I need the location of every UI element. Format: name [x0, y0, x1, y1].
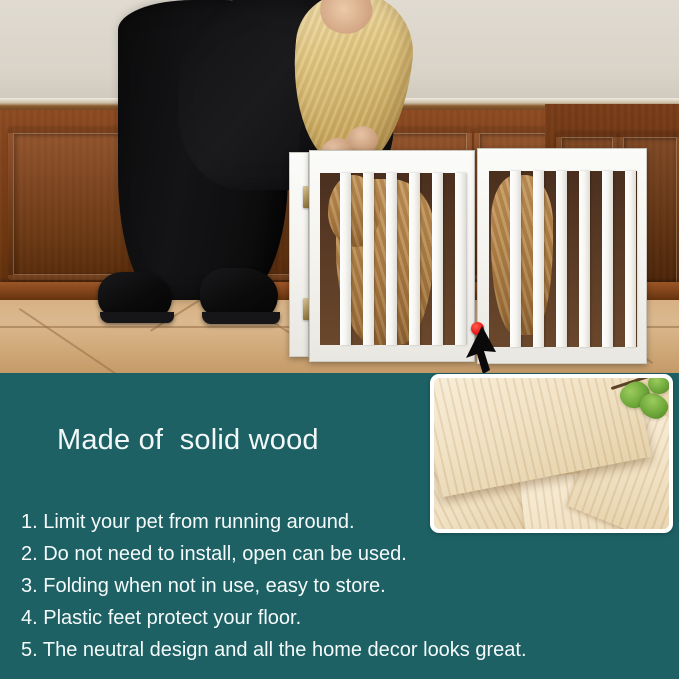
gate-slat [432, 173, 443, 345]
gate-slat [363, 173, 374, 345]
gate-slat [533, 171, 544, 347]
feature-item: 2. Do not need to install, open can be u… [21, 538, 641, 570]
wood-inset-photo [434, 378, 669, 529]
boot-sole [100, 312, 174, 323]
person-boot [200, 268, 278, 318]
feature-item: 5. The neutral design and all the home d… [21, 634, 641, 666]
boot-sole [202, 312, 280, 324]
wood-inset-frame [430, 374, 673, 533]
feature-item: 4. Plastic feet protect your floor. [21, 602, 641, 634]
gate-panel-left [309, 150, 475, 362]
gate-slat [409, 173, 420, 345]
gate-panel-folded [289, 152, 309, 357]
gate-slat [340, 173, 351, 345]
pointer-arrow-icon [452, 318, 512, 373]
gate-slat [556, 171, 567, 347]
product-marketing-image: Made of solid wood 1. Limit your pet fro… [0, 0, 679, 679]
gate-slat [602, 171, 613, 347]
gate-slat [625, 171, 636, 347]
feature-item: 3. Folding when not in use, easy to stor… [21, 570, 641, 602]
gate-slat [386, 173, 397, 345]
lifestyle-photo [0, 0, 679, 373]
gate-slat [579, 171, 590, 347]
panel-headline: Made of solid wood [57, 424, 319, 457]
